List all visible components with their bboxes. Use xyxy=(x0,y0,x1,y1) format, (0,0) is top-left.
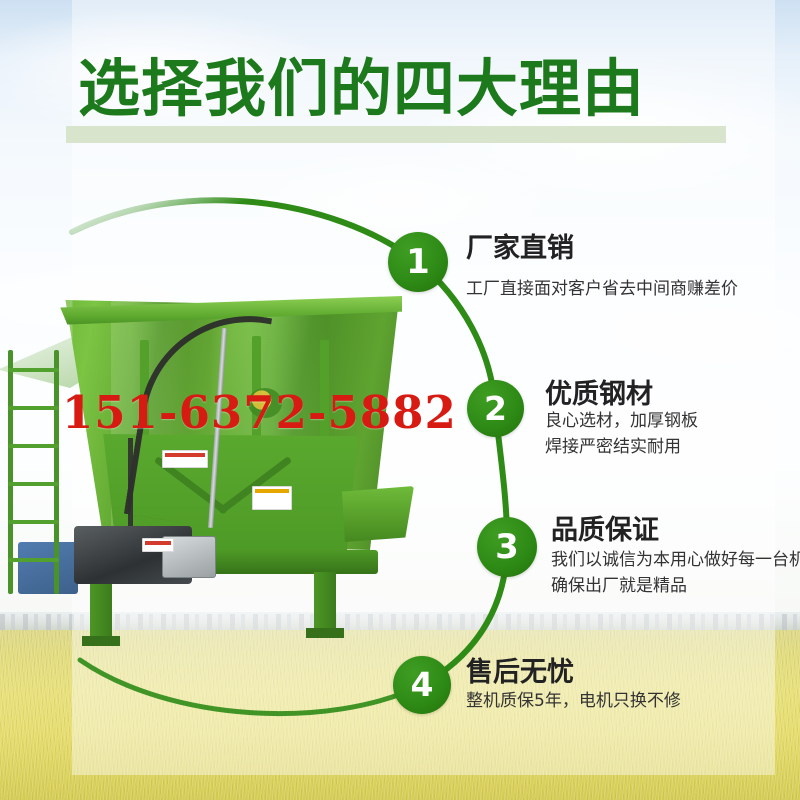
reason-number-badge-1: 1 xyxy=(388,232,448,292)
reason-heading-3: 品质保证 xyxy=(551,508,659,547)
phone-number[interactable]: 151-6372-5882 xyxy=(62,386,457,439)
reason-number-badge-4: 4 xyxy=(393,656,451,714)
reason-line-3-1: 我们以诚信为本用心做好每一台机器 xyxy=(551,545,800,570)
reason-number-badge-3: 3 xyxy=(477,517,537,577)
reason-heading-4: 售后无忧 xyxy=(466,650,574,689)
page-title: 选择我们的四大理由 xyxy=(78,58,645,120)
reason-line-1-1: 工厂直接面对客户省去中间商赚差价 xyxy=(466,274,738,299)
reason-line-2-2: 焊接严密结实耐用 xyxy=(545,432,681,457)
promo-banner: 选择我们的四大理由 151-6372-5882 1 厂家直销 工厂直接面对客户省… xyxy=(0,0,800,800)
title-underline-bar xyxy=(66,126,726,143)
arc-segment-top xyxy=(72,200,418,262)
arc-segment-bottom xyxy=(80,660,422,714)
reason-heading-1: 厂家直销 xyxy=(466,226,574,265)
reason-line-4-1: 整机质保5年，电机只换不修 xyxy=(466,686,681,711)
reason-line-3-2: 确保出厂就是精品 xyxy=(551,571,687,596)
reason-line-2-1: 良心选材，加厚钢板 xyxy=(545,406,698,431)
reason-number-badge-2: 2 xyxy=(467,380,524,437)
